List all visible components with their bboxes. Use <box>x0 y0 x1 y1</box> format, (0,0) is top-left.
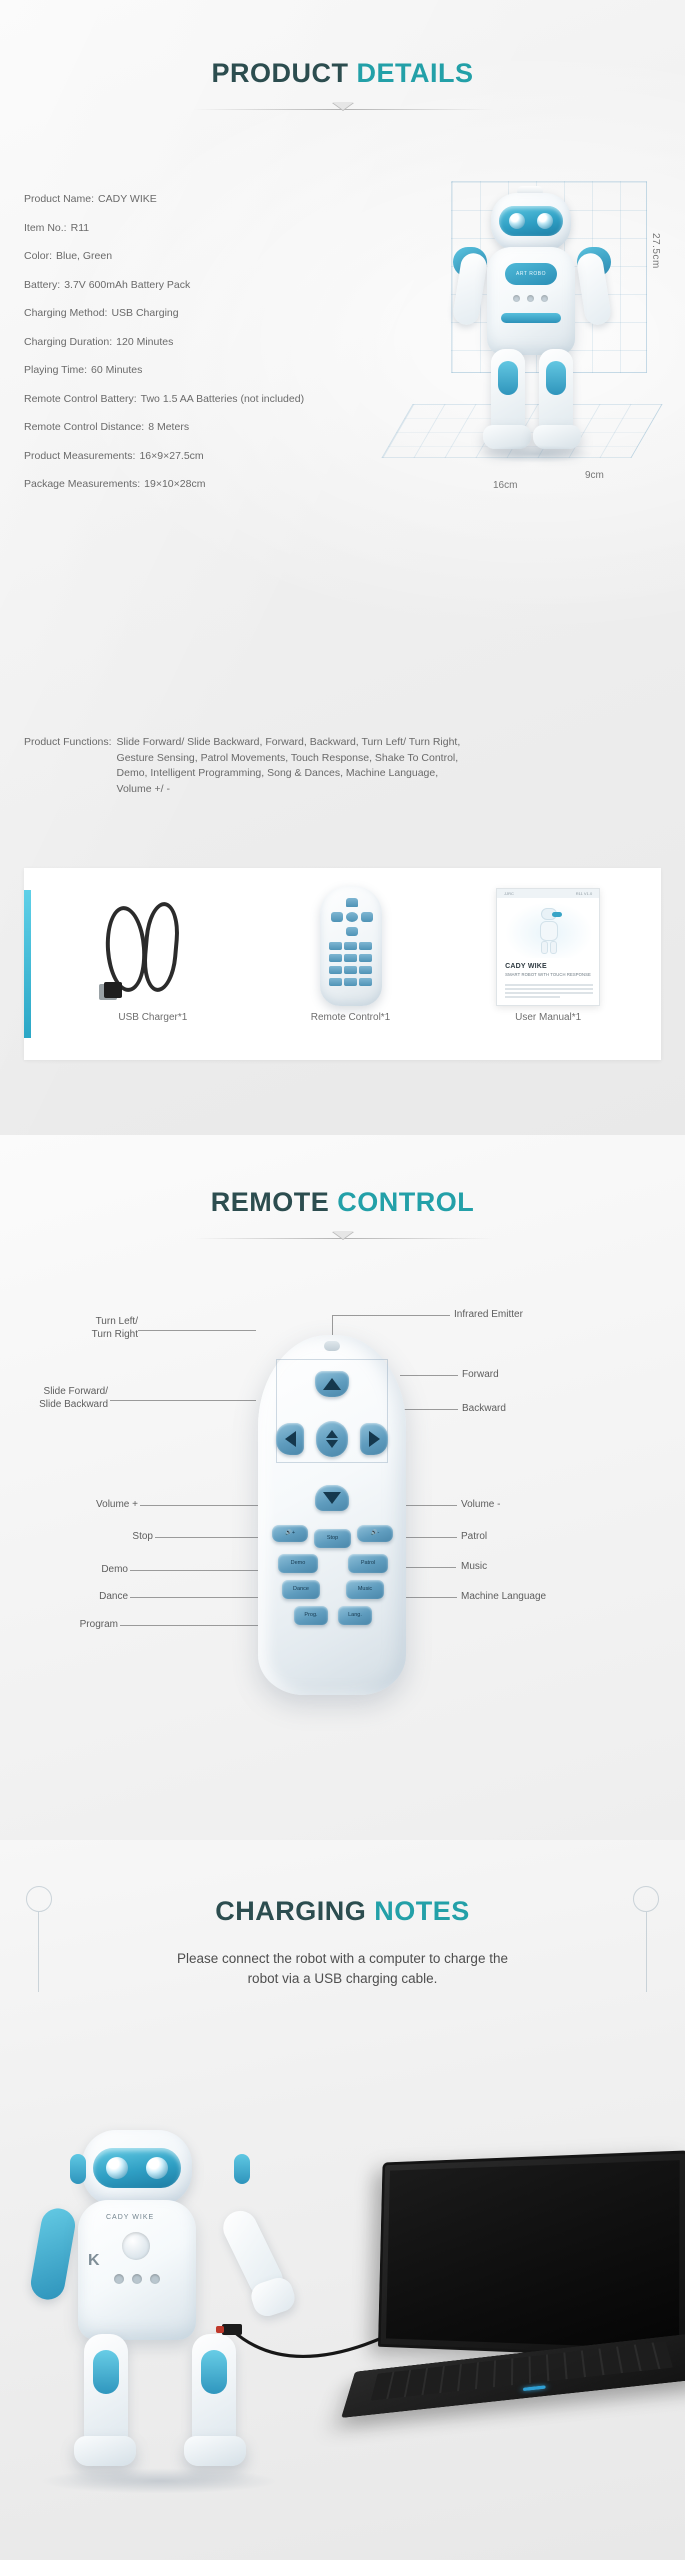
spec-value: Two 1.5 AA Batteries (not included) <box>141 393 304 405</box>
robot-visor <box>93 2148 181 2188</box>
arrow-down-small-icon <box>326 1440 338 1448</box>
function-line: Demo, Intelligent Programming, Song & Da… <box>117 766 461 782</box>
manual-robot-head <box>541 908 557 920</box>
robot-foot-left <box>74 2436 136 2466</box>
button-volume-up[interactable]: 🔊+ <box>272 1525 308 1542</box>
usb-plug-icon <box>104 982 122 998</box>
label-dance: Dance <box>50 1590 128 1603</box>
title-part-1: REMOTE <box>211 1187 330 1217</box>
spec-label: Color: <box>24 250 52 262</box>
accessory-item-user-manual: JJRC R11 V1.0 CADY WIKE SMART ROBOT WITH <box>449 878 647 1050</box>
spec-row: Color:Blue, Green <box>24 249 464 263</box>
robot-leg-stripe-left <box>93 2350 119 2394</box>
button-turn-left[interactable] <box>276 1423 304 1455</box>
label-forward: Forward <box>462 1368 499 1381</box>
cable-indicator-red <box>216 2326 224 2333</box>
arrow-left-icon <box>285 1431 296 1447</box>
robot-eye-left <box>509 213 525 229</box>
arrow-up-icon <box>323 1378 341 1390</box>
leader-line <box>138 1330 256 1331</box>
button-slide[interactable] <box>316 1421 348 1457</box>
manual-code: R11 V1.0 <box>576 891 592 896</box>
robot-visor <box>499 206 563 236</box>
button-music[interactable]: Music <box>346 1580 384 1599</box>
robot-leg-left <box>84 2334 128 2444</box>
leader-line <box>110 1400 256 1401</box>
label-volume-minus: Volume - <box>461 1498 500 1511</box>
spec-row: Remote Control Battery:Two 1.5 AA Batter… <box>24 392 464 406</box>
charging-instruction-text: Please connect the robot with a computer… <box>83 1949 603 1989</box>
dimension-height: 27.5cm <box>650 233 661 269</box>
accessory-item-remote-control: Remote Control*1 <box>252 878 450 1050</box>
usb-cable-icon <box>54 878 252 1006</box>
spec-value: 16×9×27.5cm <box>139 450 203 462</box>
label-infrared-emitter: Infrared Emitter <box>454 1308 523 1321</box>
function-line: Volume +/ - <box>117 782 461 798</box>
robot-eye-right <box>537 213 553 229</box>
spec-value: 3.7V 600mAh Battery Pack <box>64 279 190 291</box>
laptop-display-glass <box>386 2160 680 2349</box>
button-backward[interactable] <box>315 1485 349 1511</box>
function-line: Gesture Sensing, Patrol Movements, Touch… <box>117 751 461 767</box>
product-details-section: PRODUCT DETAILS ART ROBO <box>0 0 685 1135</box>
label-line-1: Turn Left/ <box>30 1315 138 1328</box>
speaker-plus-icon: 🔊+ <box>285 1531 295 1537</box>
robot-leg-stripe-left <box>498 361 518 395</box>
spec-value: CADY WIKE <box>98 193 157 205</box>
speaker-minus-icon: 🔊- <box>371 1531 380 1537</box>
robot-eye-right <box>146 2157 168 2179</box>
spec-value: R11 <box>71 222 89 234</box>
label-backward: Backward <box>462 1402 506 1415</box>
laptop-screen <box>378 2150 685 2359</box>
robot-ear-right <box>234 2154 250 2184</box>
robot-sensor-1 <box>513 295 520 302</box>
mini-key-row <box>329 966 373 974</box>
spec-row: Charging Method:USB Charging <box>24 306 464 320</box>
mini-key-up <box>346 898 358 907</box>
label-turn-left-right: Turn Left/ Turn Right <box>30 1315 138 1341</box>
robot-head <box>491 193 571 251</box>
function-line: Slide Forward/ Slide Backward, Forward, … <box>117 735 461 751</box>
manual-subtitle: SMART ROBOT WITH TOUCH RESPONSE <box>505 972 591 977</box>
robot-eye-left <box>106 2157 128 2179</box>
title-divider <box>193 109 493 110</box>
note-line-2: robot via a USB charging cable. <box>83 1969 603 1989</box>
spec-value: 19×10×28cm <box>144 478 205 490</box>
arrow-down-icon <box>323 1492 341 1504</box>
label-program: Program <box>36 1618 118 1631</box>
accessories-grid: USB Charger*1 Remote <box>54 878 647 1050</box>
label-stop: Stop <box>70 1530 153 1543</box>
dimension-depth: 9cm <box>585 470 604 481</box>
cable-plug-robot-end <box>222 2324 242 2335</box>
usb-cable-art <box>98 902 208 998</box>
button-demo[interactable]: Demo <box>278 1554 318 1573</box>
robot-belt <box>501 313 561 323</box>
spec-label: Charging Duration: <box>24 336 112 348</box>
mini-key-center <box>346 912 358 922</box>
remote-mini-art <box>320 886 382 1006</box>
accessory-caption: User Manual*1 <box>515 1012 581 1023</box>
spec-label: Remote Control Battery: <box>24 393 137 405</box>
spec-row: Remote Control Distance:8 Meters <box>24 420 464 434</box>
robot-foot-right <box>184 2436 246 2466</box>
leader-line <box>400 1409 458 1410</box>
specification-list: Product Name:CADY WIKE Item No.:R11 Colo… <box>24 192 464 506</box>
spec-label: Playing Time: <box>24 364 87 376</box>
robot-sensor-2 <box>527 295 534 302</box>
spec-value: USB Charging <box>111 307 178 319</box>
product-functions-block: Product Functions: Slide Forward/ Slide … <box>24 735 524 797</box>
mini-key-row <box>329 942 373 950</box>
spec-label: Product Name: <box>24 193 94 205</box>
label-music: Music <box>461 1560 487 1573</box>
title-part-2: NOTES <box>366 1896 470 1926</box>
robot-ear-left <box>70 2154 86 2184</box>
spec-label: Remote Control Distance: <box>24 421 144 433</box>
robot-ground-shadow <box>40 2468 280 2494</box>
label-volume-plus: Volume + <box>50 1498 138 1511</box>
mini-key-row <box>329 954 373 962</box>
laptop-led-indicator <box>523 2385 546 2391</box>
button-volume-down[interactable]: 🔊- <box>357 1525 393 1542</box>
button-dance[interactable]: Dance <box>282 1580 320 1599</box>
spec-value: 120 Minutes <box>116 336 173 348</box>
remote-control-title: REMOTE CONTROL <box>0 1135 685 1218</box>
robot-leg-stripe-right <box>201 2350 227 2394</box>
spec-value: 60 Minutes <box>91 364 142 376</box>
product-functions-list: Slide Forward/ Slide Backward, Forward, … <box>117 735 461 797</box>
charging-notes-section: CHARGING NOTES Please connect the robot … <box>0 1840 685 2560</box>
spec-row: Item No.:R11 <box>24 221 464 235</box>
spec-label: Charging Method: <box>24 307 107 319</box>
robot-power-button[interactable] <box>122 2232 150 2260</box>
arrow-right-icon <box>369 1431 380 1447</box>
product-functions-label: Product Functions: <box>24 735 112 797</box>
robot-chest-label: ART ROBO <box>505 263 557 285</box>
manual-body-lines <box>505 984 593 1000</box>
accessories-accent-bar <box>24 890 31 1038</box>
leader-line <box>155 1537 272 1538</box>
title-part-1: CHARGING <box>215 1896 366 1926</box>
spec-label: Item No.: <box>24 222 67 234</box>
robot-leg-left <box>491 349 525 433</box>
charging-scene: CADY WIKE K <box>0 2070 685 2560</box>
accessory-caption: USB Charger*1 <box>118 1012 187 1023</box>
user-manual-icon: JJRC R11 V1.0 CADY WIKE SMART ROBOT WITH <box>449 878 647 1006</box>
manual-cover: JJRC R11 V1.0 CADY WIKE SMART ROBOT WITH <box>496 888 600 1006</box>
spec-value: 8 Meters <box>148 421 189 433</box>
manual-robot-leg-left <box>541 941 548 954</box>
arrow-up-small-icon <box>326 1430 338 1438</box>
spec-label: Battery: <box>24 279 60 291</box>
mini-key-row <box>329 978 373 986</box>
product-details-title: PRODUCT DETAILS <box>0 0 685 89</box>
leader-line <box>140 1505 265 1506</box>
cable-loop-2 <box>140 901 182 994</box>
manual-brand: JJRC <box>504 891 514 896</box>
manual-robot-leg-right <box>550 941 557 954</box>
label-demo: Demo <box>50 1563 128 1576</box>
manual-title: CADY WIKE <box>505 963 547 970</box>
robot-brand-label: CADY WIKE <box>106 2214 154 2221</box>
manual-robot-visor <box>552 912 562 917</box>
title-divider <box>193 1238 493 1239</box>
spec-label: Package Measurements: <box>24 478 140 490</box>
label-line-2: Turn Right <box>30 1328 138 1341</box>
spec-row: Playing Time:60 Minutes <box>24 363 464 377</box>
remote-control-icon <box>252 878 450 1006</box>
robot-leg-stripe-right <box>546 361 566 395</box>
manual-robot-body <box>540 921 558 941</box>
label-line-2: Slide Backward <box>0 1398 108 1411</box>
robot-sensor-3 <box>541 295 548 302</box>
accessory-item-usb-charger: USB Charger*1 <box>54 878 252 1050</box>
infrared-emitter-icon <box>324 1341 340 1351</box>
spec-value: Blue, Green <box>56 250 112 262</box>
accessories-panel: USB Charger*1 Remote <box>24 868 661 1060</box>
button-machine-language[interactable]: Lang. <box>338 1606 372 1625</box>
title-part-2: CONTROL <box>329 1187 474 1217</box>
robot-sensor-1 <box>114 2274 124 2284</box>
title-part-2: DETAILS <box>349 58 474 88</box>
label-slide-forward-backward: Slide Forward/ Slide Backward <box>0 1385 108 1411</box>
button-program[interactable]: Prog. <box>294 1606 328 1625</box>
robot-body: ART ROBO <box>487 247 575 355</box>
robot-leg-right <box>539 349 573 433</box>
laptop-illustration <box>315 2156 685 2456</box>
caret-down-icon <box>332 1231 354 1239</box>
leader-line <box>332 1315 450 1316</box>
dimension-width: 16cm <box>493 480 517 491</box>
spec-label: Product Measurements: <box>24 450 135 462</box>
button-forward[interactable] <box>315 1371 349 1397</box>
remote-control-section: REMOTE CONTROL Turn Left/ Turn Right Sli… <box>0 1135 685 1840</box>
robot-illustration: ART ROBO <box>447 193 617 483</box>
button-patrol[interactable]: Patrol <box>348 1554 388 1573</box>
robot-shadow <box>477 445 593 463</box>
charging-notes-title: CHARGING NOTES <box>0 1840 685 1927</box>
spec-row: Battery:3.7V 600mAh Battery Pack <box>24 278 464 292</box>
label-machine-language: Machine Language <box>461 1590 546 1603</box>
caret-down-icon <box>332 102 354 110</box>
manual-hero-image <box>505 902 593 958</box>
manual-robot-illustration <box>534 908 564 954</box>
remote-diagram: Turn Left/ Turn Right Slide Forward/ Sli… <box>0 1305 685 1785</box>
robot-sensor-3 <box>150 2274 160 2284</box>
spec-row: Package Measurements:19×10×28cm <box>24 477 464 491</box>
robot-head <box>82 2130 192 2206</box>
robot-sensor-2 <box>132 2274 142 2284</box>
spec-row: Product Name:CADY WIKE <box>24 192 464 206</box>
mini-key-down <box>346 927 358 936</box>
note-line-1: Please connect the robot with a computer… <box>83 1949 603 1969</box>
spec-row: Charging Duration:120 Minutes <box>24 335 464 349</box>
mini-key-left <box>331 912 343 922</box>
spec-row: Product Measurements:16×9×27.5cm <box>24 449 464 463</box>
button-turn-right[interactable] <box>360 1423 388 1455</box>
label-patrol: Patrol <box>461 1530 487 1543</box>
robot-mark: K <box>88 2252 100 2270</box>
mini-key-right <box>361 912 373 922</box>
button-stop[interactable]: Stop <box>314 1529 351 1548</box>
leader-line <box>400 1375 458 1376</box>
cable-loop-1 <box>103 905 149 994</box>
label-line-1: Slide Forward/ <box>0 1385 108 1398</box>
accessory-caption: Remote Control*1 <box>311 1012 390 1023</box>
remote-control-body: 🔊+ Stop 🔊- Demo Patrol Dance Music Prog.… <box>258 1335 406 1695</box>
robot-body: CADY WIKE K <box>78 2200 196 2340</box>
title-part-1: PRODUCT <box>212 58 349 88</box>
robot-arm-left <box>28 2206 77 2303</box>
